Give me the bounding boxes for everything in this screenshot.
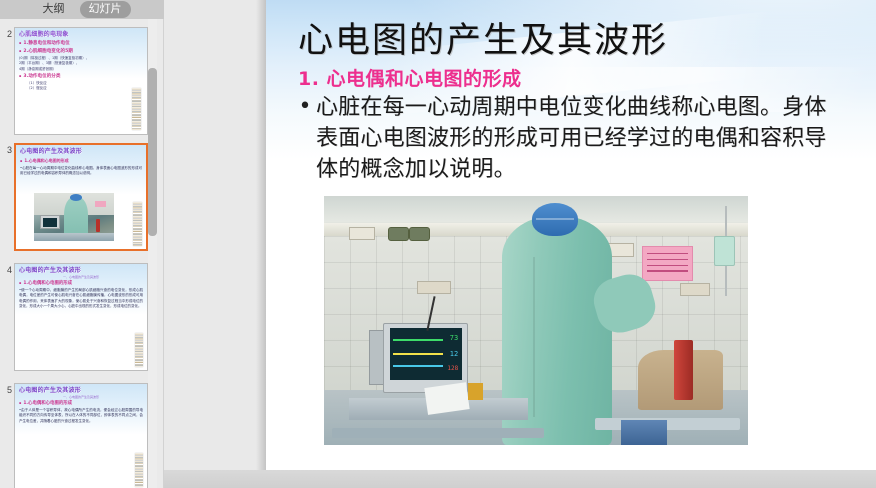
thumbnail-2-title: 心肌细胞的电现象 <box>19 31 143 39</box>
tab-slides[interactable]: 幻灯片 <box>80 1 131 18</box>
list-item[interactable]: 5 心电图的产生及其波形 一、心电图的产生及其波形 1.心电偶和心电图的形成 由… <box>0 383 152 488</box>
thumbnail-5-subtitle: 1.心电偶和心电图的形成 <box>19 400 143 407</box>
icu-hospital-photo[interactable]: 73 12 128 <box>324 196 748 445</box>
book-stack-icon <box>132 88 141 130</box>
gas-outlet-icon <box>388 227 409 241</box>
thumbnail-5-header-small: 一、心电图的产生及其波形 <box>19 395 143 399</box>
thumbnail-2-canvas: 心肌细胞的电现象 1.静息电位和动作电位 2.心肌细胞电变化的5期 (0)期（除… <box>15 28 147 134</box>
pink-wall-sign <box>642 246 693 281</box>
monitor-rr-value: 12 <box>450 350 458 358</box>
blue-equipment-box <box>621 420 668 445</box>
page-title[interactable]: 心电图的产生及其波形 <box>298 12 668 63</box>
thumbnail-5[interactable]: 心电图的产生及其波形 一、心电图的产生及其波形 1.心电偶和心电图的形成 由于人… <box>14 383 148 488</box>
thumbnail-5-title: 心电图的产生及其波形 <box>19 387 143 395</box>
thumbnail-2-bullet-1: 1.静息电位和动作电位 <box>19 40 143 47</box>
thumbnail-3[interactable]: 心电图的产生及其波形 1.心电偶和心电图的形成 心脏在每一心动周期中电位变化曲线… <box>14 143 148 251</box>
slide-shadow <box>256 0 266 470</box>
thumbnail-2[interactable]: 心肌细胞的电现象 1.静息电位和动作电位 2.心肌细胞电变化的5期 (0)期（除… <box>14 27 148 135</box>
thumbnail-2-sub-2: （2）慢反应 <box>27 86 143 91</box>
thumbnail-3-photo <box>34 193 114 241</box>
thumbnail-3-canvas: 心电图的产生及其波形 1.心电偶和心电图的形成 心脏在每一心动周期中电位变化曲线… <box>16 145 146 249</box>
thumbnail-list[interactable]: 2 心肌细胞的电现象 1.静息电位和动作电位 2.心肌细胞电变化的5期 (0)期… <box>0 19 164 488</box>
gas-outlet-icon <box>409 227 430 241</box>
thumbnail-4-body: 使一个心动周期中，细胞膜的产生的局部心肌细胞兴奋的电位变化，形成心肌电偶，电位差… <box>19 288 143 310</box>
thumbnail-5-body: 由于人体是一个容积导体，故心电偶所产生的电流，便会经过心脏周围的导电组织不同的方… <box>19 408 143 424</box>
slide-number: 5 <box>0 383 12 395</box>
thumbnail-4[interactable]: 心电图的产生及其波形 一、心电图的产生及其波形 1.心电偶和心电图的形成 使一个… <box>14 263 148 371</box>
powerpoint-window: 大纲 幻灯片 2 心肌细胞的电现象 1.静息电位和动作电位 2.心肌细胞电变化的… <box>0 0 876 488</box>
list-item[interactable]: 4 心电图的产生及其波形 一、心电图的产生及其波形 1.心电偶和心电图的形成 使… <box>0 263 152 375</box>
workspace-background <box>164 0 266 488</box>
bullet-icon: • <box>294 92 316 185</box>
list-item[interactable]: 3 心电图的产生及其波形 1.心电偶和心电图的形成 心脏在每一心动周期中电位变化… <box>0 143 152 255</box>
slide-number: 3 <box>0 143 12 155</box>
tab-outline[interactable]: 大纲 <box>34 1 74 18</box>
slide-content: 心电图的产生及其波形 1. 心电偶和心电图的形成 • 心脏在每一心动周期中电位变… <box>266 0 876 470</box>
thumbnail-4-canvas: 心电图的产生及其波形 一、心电图的产生及其波形 1.心电偶和心电图的形成 使一个… <box>15 264 147 370</box>
thumbnail-3-subtitle: 1.心电偶和心电图的形成 <box>20 157 142 165</box>
list-item[interactable]: 2 心肌细胞的电现象 1.静息电位和动作电位 2.心肌细胞电变化的5期 (0)期… <box>0 27 152 139</box>
slide-subtitle[interactable]: 1. 心电偶和心电图的形成 <box>298 64 522 91</box>
thumbnail-2-bullet-2: 2.心肌细胞电变化的5期 <box>19 48 143 55</box>
thumbnail-2-detail-2: 2期（平台期）、3期（快速复极期）、 <box>19 61 143 66</box>
slide-body-block[interactable]: • 心脏在每一心动周期中电位变化曲线称心电图。身体表面心电图波形的形成可用已经学… <box>294 92 839 185</box>
medicine-bottle <box>468 383 483 400</box>
thumbnail-2-detail-3: 4期（静息期或舒张期） <box>19 67 143 72</box>
thumbnail-2-detail-1: (0)期（除极过程）、1期（快速复极初期）、 <box>19 56 143 61</box>
pane-tabbar: 大纲 幻灯片 <box>0 0 164 19</box>
surgical-cap <box>532 203 579 235</box>
thumbnail-4-title: 心电图的产生及其波形 <box>19 267 143 275</box>
status-strip <box>164 470 876 488</box>
bed-rail <box>332 428 544 438</box>
book-stack-icon <box>135 453 143 487</box>
monitor-hr-value: 73 <box>450 334 458 342</box>
thumbnail-scrollbar-thumb[interactable] <box>148 68 157 236</box>
red-thermos <box>674 340 693 400</box>
thumbnail-2-bullet-3: 3.动作电位的分类 <box>19 73 143 80</box>
wall-socket-icon <box>417 281 451 295</box>
iv-bag <box>714 236 735 266</box>
wall-socket-icon <box>349 227 374 239</box>
slides-pane: 大纲 幻灯片 2 心肌细胞的电现象 1.静息电位和动作电位 2.心肌细胞电变化的… <box>0 0 164 488</box>
book-stack-icon <box>135 333 143 367</box>
slide-body-text: 心脏在每一心动周期中电位变化曲线称心电图。身体表面心电图波形的形成可用已经学过的… <box>316 92 839 185</box>
slide-number: 4 <box>0 263 12 275</box>
thumbnail-3-title: 心电图的产生及其波形 <box>20 148 142 156</box>
thumbnail-4-header-small: 一、心电图的产生及其波形 <box>19 275 143 279</box>
wall-socket-icon <box>680 283 710 295</box>
bed-rail <box>595 418 739 430</box>
thumbnail-5-canvas: 心电图的产生及其波形 一、心电图的产生及其波形 1.心电偶和心电图的形成 由于人… <box>15 384 147 488</box>
slide-number: 2 <box>0 27 12 39</box>
thumbnail-3-body: 心脏在每一心动周期中电位变化曲线称心电图。身体表面心电图波形的形成可用已经学过的… <box>20 166 142 177</box>
slide-editor-canvas[interactable]: 心电图的产生及其波形 1. 心电偶和心电图的形成 • 心脏在每一心动周期中电位变… <box>266 0 876 470</box>
thumbnail-scrollbar-track[interactable] <box>148 19 157 488</box>
monitor-screen: 73 12 128 <box>390 328 462 380</box>
monitor-bp-value: 128 <box>447 365 458 372</box>
book-stack-icon <box>133 202 142 246</box>
thumbnail-4-subtitle: 1.心电偶和心电图的形成 <box>19 280 143 287</box>
